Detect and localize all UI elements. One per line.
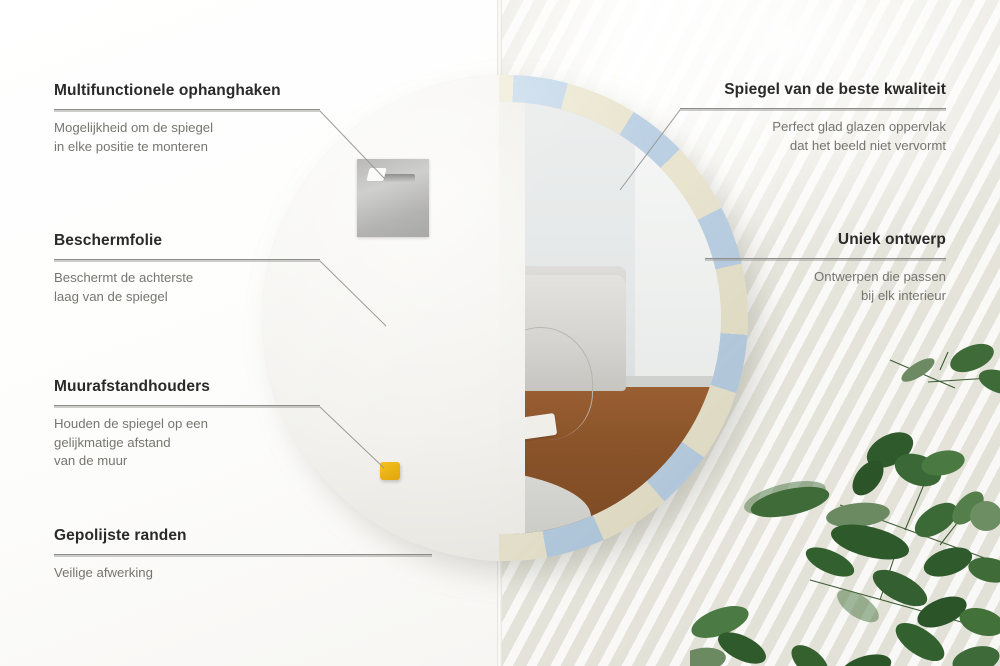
wall-spacer: [380, 462, 400, 480]
callout-description: Mogelijkheid om de spiegel in elke posit…: [54, 119, 320, 156]
callout-rule: [54, 405, 320, 406]
callout-beschermfolie: Beschermfolie Beschermt de achterste laa…: [54, 232, 320, 306]
foliage-decoration: [690, 330, 1000, 666]
callout-gepolijste-randen: Gepolijste randen Veilige afwerking: [54, 527, 432, 583]
callout-ophanghaken: Multifunctionele ophanghaken Mogelijkhei…: [54, 82, 320, 156]
callout-rule: [54, 259, 320, 260]
callout-rule: [54, 554, 432, 555]
callout-description: Beschermt de achterste laag van de spieg…: [54, 269, 320, 306]
callout-title: Multifunctionele ophanghaken: [54, 82, 320, 100]
callout-rule: [680, 108, 946, 109]
callout-uniek-ontwerp: Uniek ontwerp Ontwerpen die passen bij e…: [705, 231, 946, 305]
callout-description: Ontwerpen die passen bij elk interieur: [705, 268, 946, 305]
callout-description: Houden de spiegel op een gelijkmatige af…: [54, 415, 320, 471]
callout-title: Beschermfolie: [54, 232, 320, 250]
hook-keyhole-slot: [371, 174, 415, 182]
callout-title: Gepolijste randen: [54, 527, 432, 545]
callout-title: Spiegel van de beste kwaliteit: [680, 81, 946, 99]
callout-beste-kwaliteit: Spiegel van de beste kwaliteit Perfect g…: [680, 81, 946, 155]
callout-rule: [705, 258, 946, 259]
infographic-stage: Multifunctionele ophanghaken Mogelijkhei…: [0, 0, 1000, 666]
callout-title: Muurafstandhouders: [54, 378, 320, 396]
callout-rule: [54, 109, 320, 110]
callout-description: Veilige afwerking: [54, 564, 432, 583]
leaves-icon: [690, 330, 1000, 666]
hanging-hook-plate: [357, 159, 429, 237]
callout-muurafstandhouders: Muurafstandhouders Houden de spiegel op …: [54, 378, 320, 471]
callout-title: Uniek ontwerp: [705, 231, 946, 249]
callout-description: Perfect glad glazen oppervlak dat het be…: [680, 118, 946, 155]
